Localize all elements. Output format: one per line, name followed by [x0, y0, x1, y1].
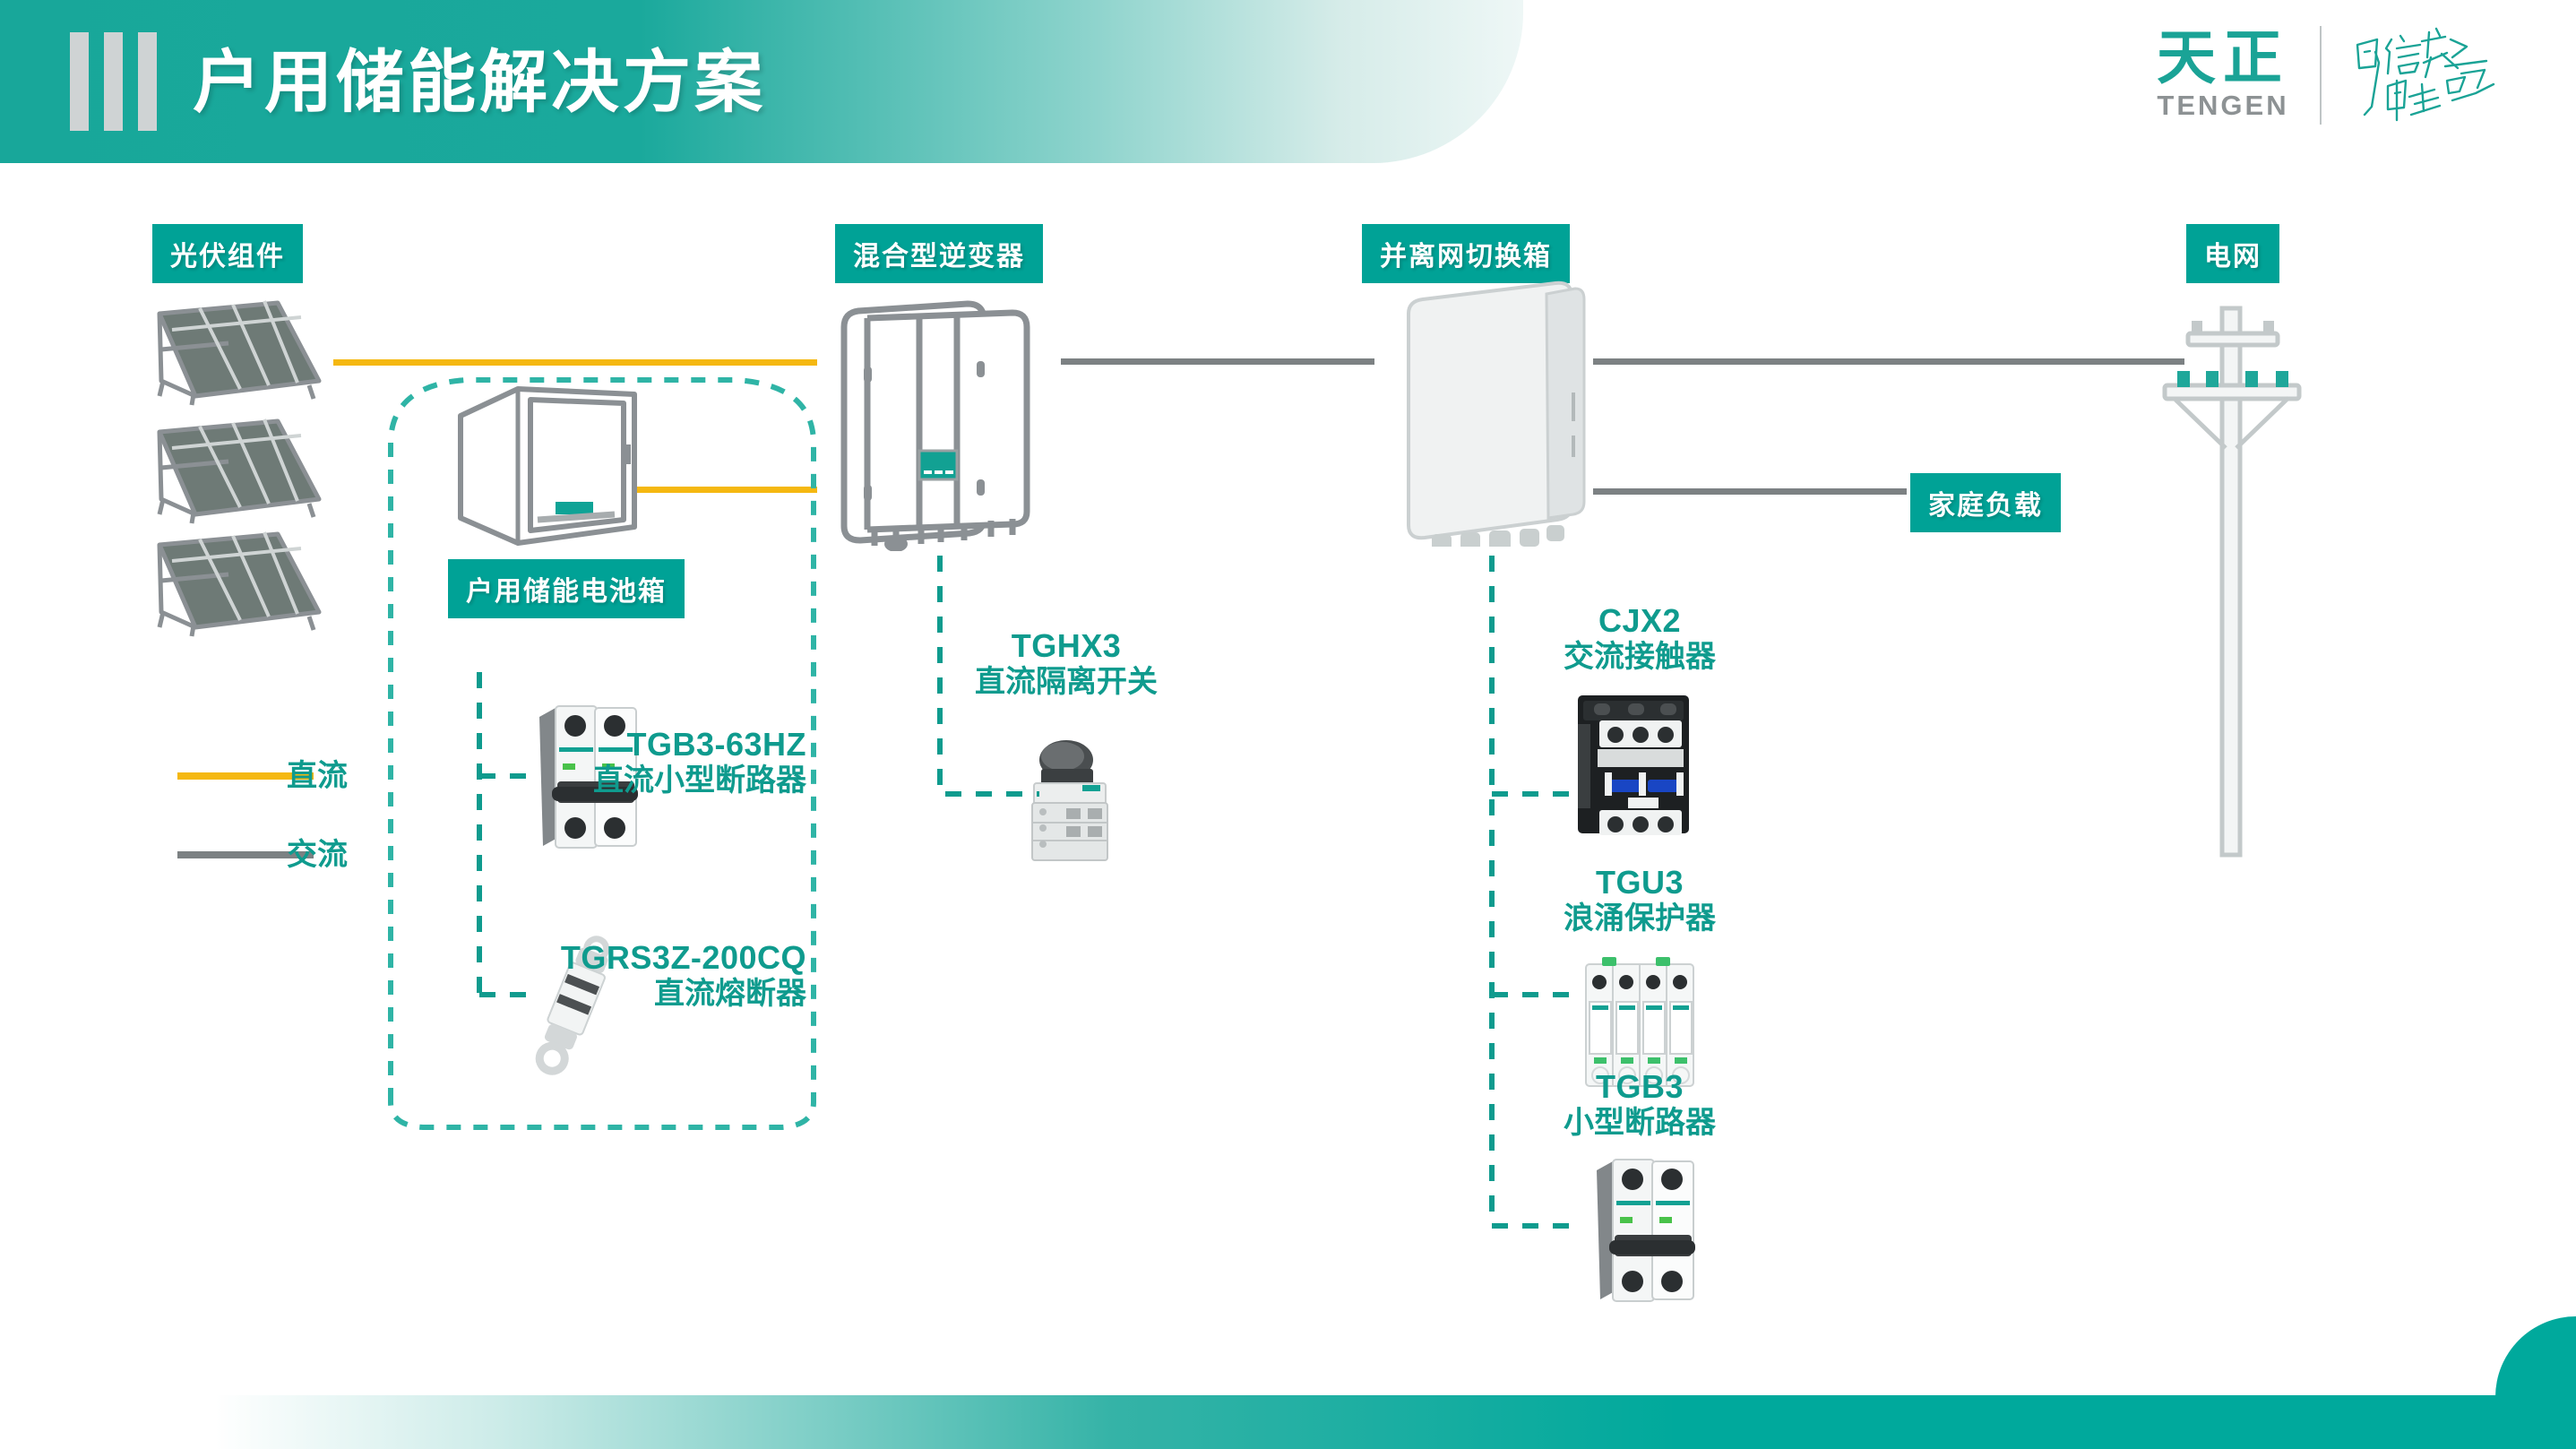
product-model-tgu3: TGU3: [1469, 864, 1810, 901]
header-bar-2: [104, 32, 123, 131]
product-caption-tghx3: TGHX3 直流隔离开关: [896, 627, 1236, 700]
legend-label-dc: 直流: [287, 751, 348, 795]
header-bar-1: [70, 32, 89, 131]
product-caption-tgb3-63hz: TGB3-63HZ 直流小型断路器: [394, 726, 806, 798]
ac-contactor-icon: [1564, 688, 1707, 841]
product-desc-tgb3-63hz: 直流小型断路器: [394, 763, 806, 798]
ac-line-switchbox-to-grid: [1593, 358, 2184, 365]
logo-divider: [2320, 26, 2322, 125]
diagram-stage: 户用储能解决方案 天正 TENGEN: [0, 0, 2576, 1449]
product-desc-tgrs3z-200cq: 直流熔断器: [376, 977, 806, 1012]
product-model-tgb3-63hz: TGB3-63HZ: [394, 726, 806, 763]
product-caption-tgb3: TGB3 小型断路器: [1469, 1068, 1810, 1141]
solar-panel-icon: [143, 414, 323, 530]
product-caption-cjx2: CJX2 交流接触器: [1469, 602, 1810, 675]
footer-band: [215, 1395, 2576, 1449]
product-desc-cjx2: 交流接触器: [1469, 640, 1810, 675]
legend-label-ac: 交流: [287, 830, 348, 874]
logo-name-cn: 天正: [2157, 29, 2289, 87]
dc-line-battery-to-inverter: [618, 487, 817, 493]
transfer-switch-box-icon: [1396, 278, 1593, 547]
brand-logo: 天正 TENGEN: [2157, 22, 2522, 129]
stage-label-grid: 电网: [2186, 224, 2279, 283]
logo-mark: 天正 TENGEN: [2157, 29, 2289, 123]
ac-line-switchbox-to-home-load: [1593, 488, 1907, 495]
utility-pole-icon: [2150, 287, 2312, 860]
stage-label-switchbox: 并离网切换箱: [1362, 224, 1570, 283]
product-model-cjx2: CJX2: [1469, 602, 1810, 640]
hybrid-inverter-icon: [833, 300, 1039, 551]
solar-panel-icon: [143, 527, 323, 643]
stage-label-inverter: 混合型逆变器: [835, 224, 1043, 283]
product-caption-tgrs3z-200cq: TGRS3Z-200CQ 直流熔断器: [376, 939, 806, 1012]
miniature-circuit-breaker-icon: [1586, 1151, 1702, 1308]
logo-name-en: TENGEN: [2157, 90, 2288, 122]
product-desc-tgb3: 小型断路器: [1469, 1106, 1810, 1141]
ac-line-inverter-to-switchbox: [1061, 358, 1374, 365]
product-desc-tghx3: 直流隔离开关: [896, 665, 1236, 700]
stage-label-pv: 光伏组件: [152, 224, 303, 283]
dc-line-pv-to-inverter: [333, 359, 817, 366]
stage-label-battery-box: 户用储能电池箱: [448, 559, 685, 618]
product-model-tghx3: TGHX3: [896, 627, 1236, 665]
dc-isolator-switch-icon: [1011, 733, 1127, 867]
battery-cabinet-icon: [448, 376, 645, 556]
footer-corner-accent: [2495, 1316, 2576, 1449]
solar-panel-icon: [143, 296, 323, 412]
page-title: 户用储能解决方案: [193, 27, 766, 125]
brand-slogan-icon: [2352, 22, 2522, 129]
product-model-tgb3: TGB3: [1469, 1068, 1810, 1106]
header-bar-3: [138, 32, 157, 131]
product-model-tgrs3z-200cq: TGRS3Z-200CQ: [376, 939, 806, 977]
stage-label-home-load: 家庭负载: [1910, 473, 2061, 532]
product-caption-tgu3: TGU3 浪涌保护器: [1469, 864, 1810, 936]
header-accent-bars: [70, 32, 157, 131]
product-desc-tgu3: 浪涌保护器: [1469, 901, 1810, 936]
